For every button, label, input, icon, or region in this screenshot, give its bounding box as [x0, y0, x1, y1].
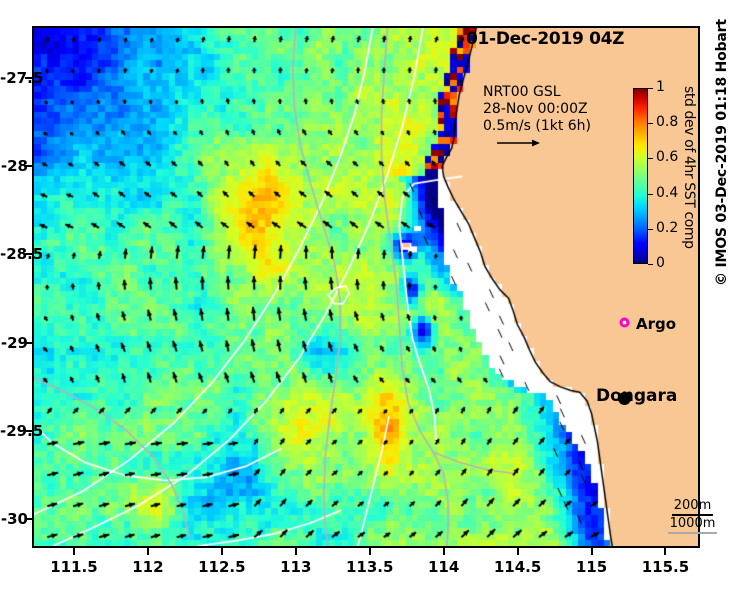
argo-marker-label: Argo — [636, 315, 676, 333]
vector-legend-scale: 0.5m/s (1kt 6h) — [483, 118, 591, 135]
colorbar-tick-label: 0.2 — [656, 220, 678, 236]
x-axis-tick — [295, 548, 297, 555]
x-axis-label: 112.5 — [187, 558, 257, 576]
colorbar-tick-label: 0.6 — [656, 149, 678, 165]
colorbar-tick-label: 0.8 — [656, 114, 678, 130]
copyright-notice: © IMOS 03-Dec-2019 01:18 Hobart — [714, 19, 730, 286]
right-arrow-icon — [496, 138, 540, 148]
x-axis-tick — [221, 548, 223, 555]
y-axis-label: -29 — [0, 334, 28, 352]
x-axis-label: 114.5 — [483, 558, 553, 576]
x-axis-label: 113 — [261, 558, 331, 576]
x-axis-label: 111.5 — [39, 558, 109, 576]
vector-legend: NRT00 GSL 28-Nov 00:00Z 0.5m/s (1kt 6h) — [483, 84, 591, 135]
x-axis-tick — [591, 548, 593, 555]
depth-contour-legend: 200m 1000m — [646, 498, 739, 534]
colorbar-tick — [648, 229, 653, 230]
x-axis-tick — [369, 548, 371, 555]
dongara-marker-label: Dongara — [596, 386, 677, 406]
colorbar-tick-label: 1 — [656, 79, 665, 95]
x-axis-label: 114 — [409, 558, 479, 576]
x-axis-tick — [517, 548, 519, 555]
contour-1000m-label: 1000m — [668, 516, 718, 534]
vector-legend-source: NRT00 GSL — [483, 84, 591, 101]
x-axis-label: 113.5 — [335, 558, 405, 576]
map-plot-area[interactable] — [32, 26, 700, 548]
x-axis-label: 112 — [113, 558, 183, 576]
y-axis-label: -28 — [0, 157, 28, 175]
colorbar-gradient — [633, 88, 648, 264]
colorbar-tick — [648, 123, 653, 124]
colorbar-tick-label: 0.4 — [656, 185, 678, 201]
x-axis-label: 115.5 — [630, 558, 700, 576]
x-axis-tick — [73, 548, 75, 555]
y-axis-label: -29.5 — [0, 422, 28, 440]
colorbar-tick — [648, 194, 653, 195]
y-axis-label: -27.5 — [0, 69, 28, 87]
y-axis-label: -28.5 — [0, 245, 28, 263]
sst-map-figure: 01-Dec-2019 04Z NRT00 GSL 28-Nov 00:00Z … — [0, 0, 739, 592]
colorbar-title: std dev of 4hr SST comp — [681, 86, 697, 249]
colorbar-tick — [648, 264, 653, 265]
y-axis-label: -30 — [0, 510, 28, 528]
colorbar-tick-label: 0 — [656, 255, 665, 271]
x-axis-tick — [147, 548, 149, 555]
x-axis-tick — [443, 548, 445, 555]
page-title: 01-Dec-2019 04Z — [466, 29, 624, 49]
current-vectors-overlay — [34, 28, 698, 546]
x-axis-label: 115 — [557, 558, 627, 576]
x-axis-tick — [664, 548, 666, 555]
contour-200m-label: 200m — [672, 498, 713, 516]
vector-legend-time: 28-Nov 00:00Z — [483, 101, 591, 118]
colorbar-tick — [648, 158, 653, 159]
colorbar-tick — [648, 88, 653, 89]
argo-marker-icon[interactable] — [619, 317, 630, 328]
